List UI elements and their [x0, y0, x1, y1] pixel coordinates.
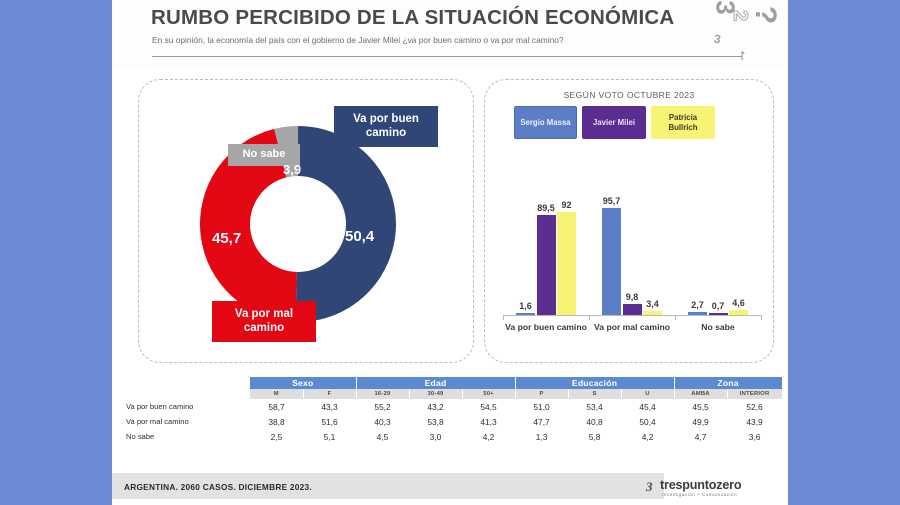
bar-2-2[interactable]	[729, 310, 748, 315]
bar-0-1[interactable]	[537, 215, 556, 315]
table-group-header-row: SexoEdadEducaciónZona	[120, 377, 782, 389]
table-subheader-9: INTERIOR	[727, 389, 782, 399]
donut-value-mal-camino: 45,7	[212, 230, 241, 247]
table-cell-2-5: 1,3	[515, 429, 568, 444]
table-row-label-1: Va por mal camino	[120, 414, 250, 429]
donut-label-mal-camino: Va por mal camino	[212, 301, 316, 342]
brand-watermark-icon: 3 2 ? 3	[712, 0, 790, 60]
table-cell-1-0: 38,8	[250, 414, 303, 429]
table-cell-2-2: 4,5	[356, 429, 409, 444]
table-cell-0-2: 55,2	[356, 399, 409, 414]
header-divider	[152, 56, 742, 57]
x-axis-tick-1	[675, 315, 676, 320]
logo-mark-icon: 3	[646, 479, 653, 495]
table-group-header-educación: Educación	[515, 377, 674, 389]
breakdown-table: SexoEdadEducaciónZona MF16-2930-4950+PSU…	[120, 377, 780, 444]
table-row: Va por mal camino38,851,640,353,841,347,…	[120, 414, 782, 429]
table-cell-0-3: 43,2	[409, 399, 462, 414]
category-label-1: Va por mal camino	[589, 322, 675, 333]
slide-canvas: RUMBO PERCIBIDO DE LA SITUACIÓN ECONÓMIC…	[112, 0, 788, 505]
table-cell-2-6: 5,8	[568, 429, 621, 444]
watermark-mark-4: 3	[713, 32, 722, 47]
bar-value-label-1-0: 95,7	[597, 196, 626, 206]
table-cell-0-5: 51,0	[515, 399, 568, 414]
logo-tagline: Investigación + Comunicación	[662, 492, 737, 497]
x-axis-tick-0	[589, 315, 590, 320]
category-label-2: No sabe	[675, 322, 761, 333]
donut-value-no-sabe: 3,9	[283, 162, 301, 177]
table-group-header-zona: Zona	[674, 377, 782, 389]
table-row-label-0: Va por buen camino	[120, 399, 250, 414]
table-cell-2-9: 3,6	[727, 429, 782, 444]
bar-2-0[interactable]	[688, 312, 707, 315]
x-axis-tick-start	[503, 315, 504, 320]
table-cell-0-1: 43,3	[303, 399, 356, 414]
table-subheader-5: P	[515, 389, 568, 399]
trespuntozero-logo: 3 trespuntozero Investigación + Comunica…	[646, 478, 778, 498]
table-cell-1-6: 40,8	[568, 414, 621, 429]
table-subcorner-cell	[120, 389, 250, 399]
bar-plot-area: 1,689,59295,79,83,42,70,74,6 Va por buen…	[503, 192, 761, 316]
table-cell-1-8: 49,9	[674, 414, 727, 429]
footer-note: ARGENTINA. 2060 CASOS. DICIEMBRE 2023.	[124, 482, 312, 492]
x-axis-tick-2	[761, 315, 762, 320]
watermark-mark-2: 2	[728, 10, 751, 21]
watermark-mark-1: 3	[710, 0, 741, 14]
watermark-mark-3: ?	[748, 6, 782, 24]
table-subheader-8: AMBA	[674, 389, 727, 399]
table-subheader-2: 16-29	[356, 389, 409, 399]
table-cell-2-7: 4,2	[621, 429, 674, 444]
bar-0-0[interactable]	[516, 313, 535, 316]
bar-value-label-1-2: 3,4	[638, 299, 667, 309]
table-group-header-sexo: Sexo	[250, 377, 356, 389]
table-cell-1-7: 50,4	[621, 414, 674, 429]
table-row-label-2: No sabe	[120, 429, 250, 444]
table-subheader-4: 50+	[462, 389, 515, 399]
swirl-icon: ↾	[737, 49, 747, 63]
table-cell-1-1: 51,6	[303, 414, 356, 429]
table-cell-2-8: 4,7	[674, 429, 727, 444]
bar-1-2[interactable]	[643, 311, 662, 315]
table-cell-0-6: 53,4	[568, 399, 621, 414]
donut-chart-panel: Va por buen camino Va por mal camino No …	[138, 79, 474, 363]
slide-header: RUMBO PERCIBIDO DE LA SITUACIÓN ECONÓMIC…	[112, 0, 788, 67]
table-corner-cell	[120, 377, 250, 389]
table-subheader-6: S	[568, 389, 621, 399]
table-subheader-1: F	[303, 389, 356, 399]
table-cell-2-4: 4,2	[462, 429, 515, 444]
table-cell-0-7: 45,4	[621, 399, 674, 414]
donut-chart: Va por buen camino Va por mal camino No …	[173, 108, 423, 340]
bar-value-label-2-2: 4,6	[724, 298, 753, 308]
donut-value-buen-camino: 50,4	[345, 228, 374, 245]
donut-label-buen-camino: Va por buen camino	[334, 106, 438, 147]
bar-chart-legend: Sergio Massa Javier Milei Patricia Bullr…	[514, 106, 746, 140]
logo-wordmark: trespuntozero	[660, 478, 741, 492]
donut-slice-0[interactable]	[296, 126, 396, 322]
legend-item-javier-milei[interactable]: Javier Milei	[582, 106, 646, 139]
table-subheader-row: MF16-2930-4950+PSUAMBAINTERIOR	[120, 389, 782, 399]
table-cell-0-4: 54,5	[462, 399, 515, 414]
bar-0-2[interactable]	[557, 212, 576, 315]
table-cell-0-8: 45,5	[674, 399, 727, 414]
table-cell-2-1: 5,1	[303, 429, 356, 444]
page-subtitle: En su opinión, la economía del país con …	[152, 35, 564, 45]
table-cell-2-3: 3,0	[409, 429, 462, 444]
table-cell-1-5: 47,7	[515, 414, 568, 429]
legend-item-sergio-massa[interactable]: Sergio Massa	[514, 106, 577, 139]
category-label-0: Va por buen camino	[503, 322, 589, 333]
table-cell-0-9: 52,6	[727, 399, 782, 414]
table-cell-1-4: 41,3	[462, 414, 515, 429]
legend-item-patricia-bullrich[interactable]: Patricia Bullrich	[651, 106, 715, 139]
table-cell-1-3: 53,8	[409, 414, 462, 429]
table-cell-1-2: 40,3	[356, 414, 409, 429]
table-cell-0-0: 58,7	[250, 399, 303, 414]
bar-chart-panel: SEGÚN VOTO OCTUBRE 2023 Sergio Massa Jav…	[484, 79, 774, 363]
table: SexoEdadEducaciónZona MF16-2930-4950+PSU…	[120, 377, 783, 444]
table-subheader-0: M	[250, 389, 303, 399]
table-row: No sabe2,55,14,53,04,21,35,84,24,73,6	[120, 429, 782, 444]
table-cell-2-0: 2,5	[250, 429, 303, 444]
table-subheader-7: U	[621, 389, 674, 399]
table-group-header-edad: Edad	[356, 377, 515, 389]
bar-value-label-0-2: 92	[552, 200, 581, 210]
page-title: RUMBO PERCIBIDO DE LA SITUACIÓN ECONÓMIC…	[151, 6, 674, 30]
bar-chart-title: SEGÚN VOTO OCTUBRE 2023	[485, 90, 773, 100]
bar-2-1[interactable]	[709, 313, 728, 316]
table-subheader-3: 30-49	[409, 389, 462, 399]
table-cell-1-9: 43,9	[727, 414, 782, 429]
table-row: Va por buen camino58,743,355,243,254,551…	[120, 399, 782, 414]
